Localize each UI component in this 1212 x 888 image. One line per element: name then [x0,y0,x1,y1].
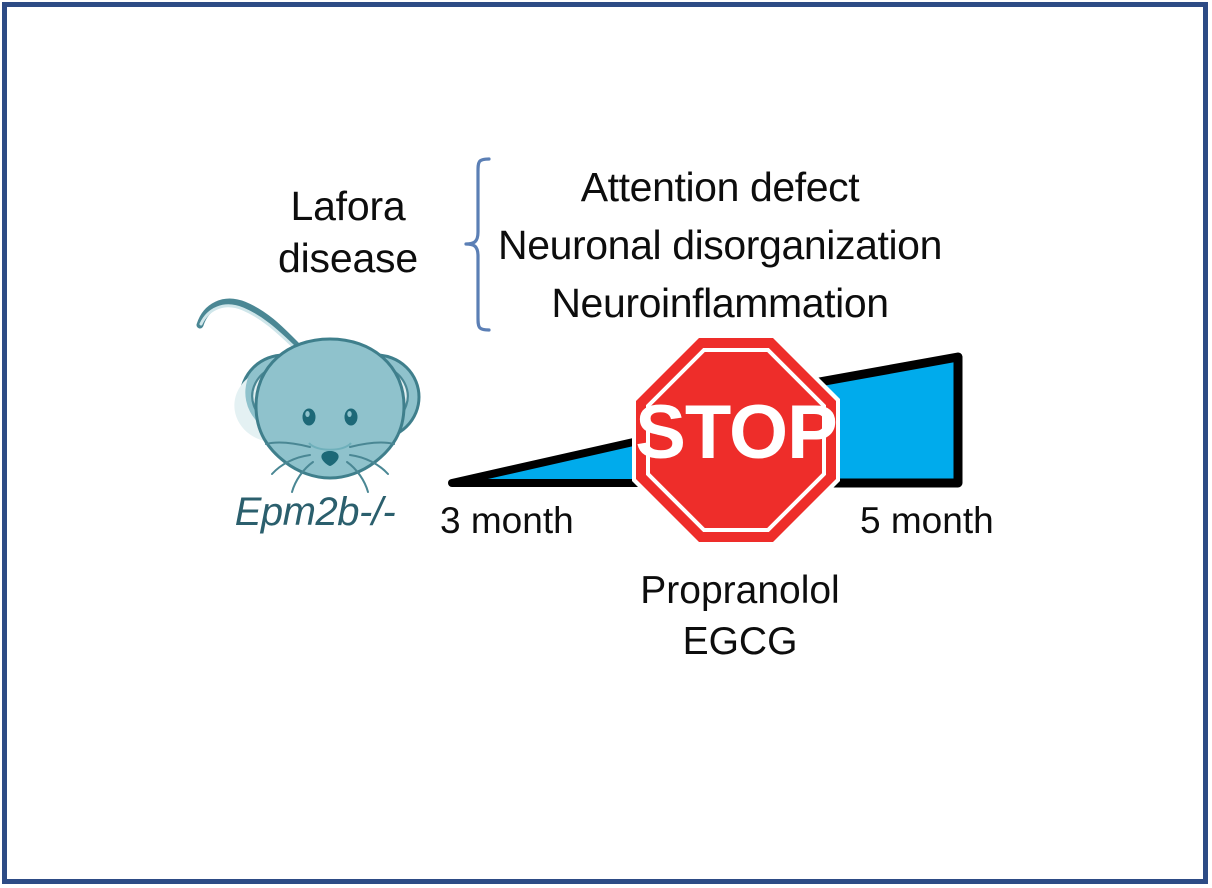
genotype-label: Epm2b-/- [195,490,435,535]
stop-sign-icon: STOP [632,334,840,546]
timeline-start-label: 3 month [440,500,620,542]
stop-sign-label: STOP [635,390,837,475]
symptom-item-2: Neuronal disorganization [470,216,970,274]
drug-item-2: EGCG [560,616,920,667]
treatment-drug-list: Propranolol EGCG [560,565,920,667]
disease-label-line1: Lafora [290,183,405,229]
figure-graphics: STOP [0,0,1212,888]
drug-item-1: Propranolol [560,565,920,616]
disease-label: Lafora disease [243,180,453,284]
disease-label-line2: disease [278,235,418,281]
symptom-list: Attention defect Neuronal disorganizatio… [470,158,970,332]
symptom-item-3: Neuroinflammation [470,274,970,332]
timeline-end-label: 5 month [860,500,1050,542]
mouse-icon [200,302,419,492]
symptom-item-1: Attention defect [470,158,970,216]
graphical-abstract-figure: STOP Lafora disease Attention defect Neu… [0,0,1212,888]
